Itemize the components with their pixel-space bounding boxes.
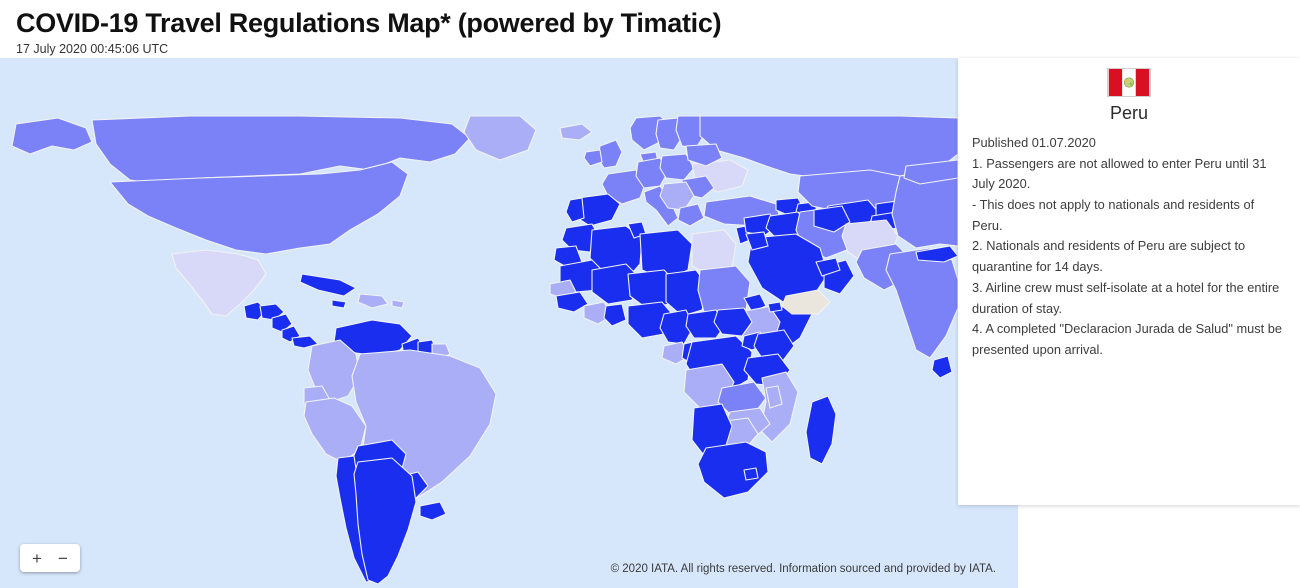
flag-wrap (972, 66, 1286, 97)
country-ghana[interactable] (604, 304, 626, 326)
country-name: Peru (972, 97, 1286, 133)
country-greece[interactable] (678, 204, 704, 226)
country-guinea[interactable] (556, 292, 588, 312)
country-ireland[interactable] (584, 150, 602, 166)
regulation-item: 3. Airline crew must self-isolate at a h… (972, 278, 1286, 319)
country-south-africa[interactable] (698, 442, 768, 498)
world-map-svg[interactable] (0, 58, 1018, 588)
country-madagascar[interactable] (806, 396, 836, 464)
country-puerto-rico[interactable] (392, 300, 404, 308)
country-hispaniola[interactable] (358, 294, 388, 308)
world-map[interactable]: © 2020 IATA. All rights reserved. Inform… (0, 58, 1018, 588)
map-attribution: © 2020 IATA. All rights reserved. Inform… (611, 563, 996, 575)
country-sri-lanka[interactable] (932, 356, 952, 378)
country-jordan[interactable] (746, 232, 768, 250)
zoom-out-button[interactable]: − (50, 545, 76, 571)
regulation-item: 4. A completed "Declaracion Jurada de Sa… (972, 319, 1286, 360)
country-canada[interactable] (92, 116, 470, 184)
country-united-kingdom[interactable] (598, 140, 622, 168)
page-title: COVID-19 Travel Regulations Map* (powere… (0, 0, 1300, 39)
timestamp: 17 July 2020 00:45:06 UTC (0, 39, 1300, 57)
regulation-list: Published 01.07.2020 1. Passengers are n… (972, 133, 1286, 361)
country-india[interactable] (886, 248, 958, 358)
country-portugal[interactable] (566, 198, 584, 222)
country-cuba[interactable] (300, 274, 356, 296)
country-lesotho[interactable] (744, 468, 758, 480)
country-mozambique[interactable] (760, 372, 798, 442)
regulation-item: - This does not apply to nationals and r… (972, 195, 1286, 236)
country-iceland[interactable] (560, 124, 592, 140)
regulation-item: 1. Passengers are not allowed to enter P… (972, 154, 1286, 195)
country-jamaica[interactable] (332, 300, 346, 308)
zoom-in-button[interactable]: + (24, 545, 50, 571)
zoom-control[interactable]: + − (20, 544, 80, 572)
country-info-panel: Peru Published 01.07.2020 1. Passengers … (958, 58, 1300, 505)
country-uruguay[interactable] (420, 502, 446, 520)
country-greenland[interactable] (464, 116, 536, 160)
regulation-item: 2. Nationals and residents of Peru are s… (972, 236, 1286, 277)
country-alaska[interactable] (12, 118, 92, 154)
country-djibouti[interactable] (768, 302, 782, 312)
peru-flag-icon (1107, 68, 1151, 97)
published-date: Published 01.07.2020 (972, 133, 1286, 154)
